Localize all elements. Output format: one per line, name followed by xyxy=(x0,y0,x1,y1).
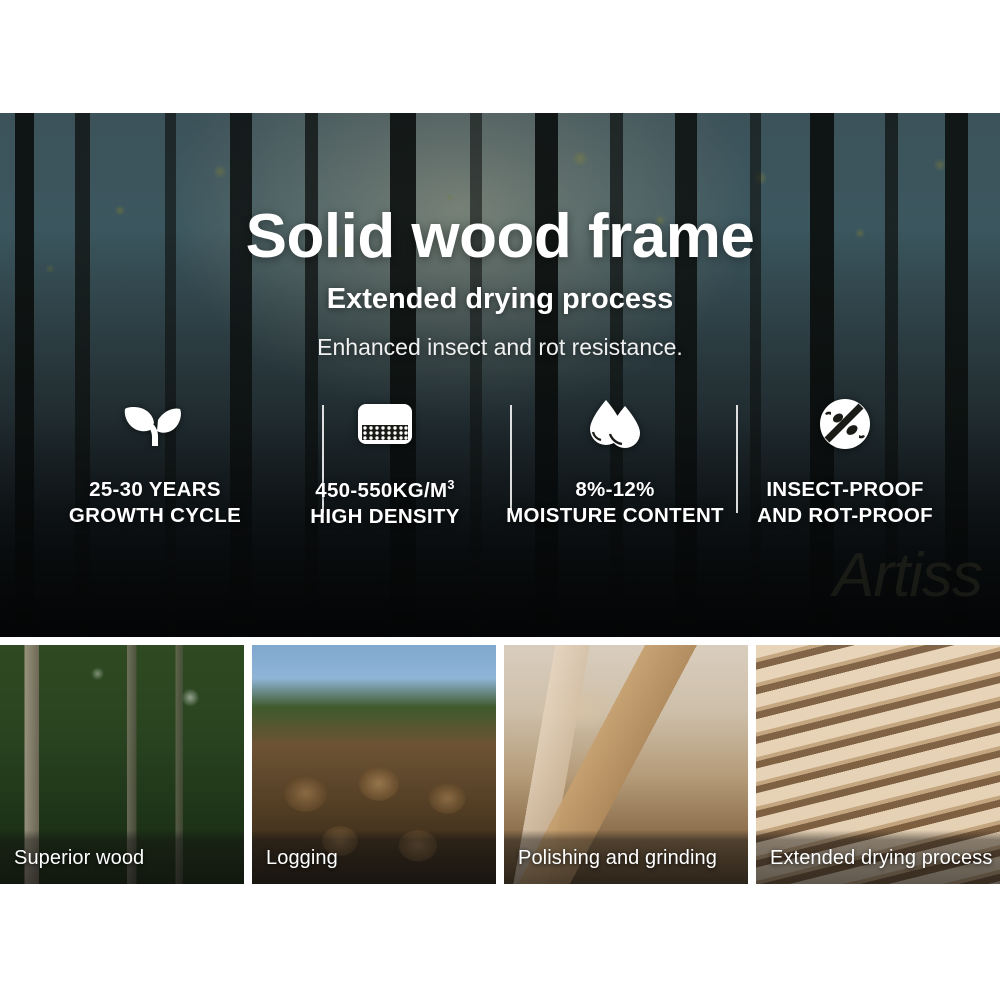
feature-label: 450-550KG/M3 HIGH DENSITY xyxy=(310,477,459,530)
gallery-tile-extended-drying: Extended drying process xyxy=(756,645,1000,884)
feature-line-1: 8%-12% xyxy=(575,478,654,501)
gallery-caption: Logging xyxy=(266,847,338,870)
gallery-tile-logging: Logging xyxy=(252,645,496,884)
water-droplets-icon xyxy=(584,393,646,455)
gallery-caption: Superior wood xyxy=(14,847,144,870)
hero-banner: Artiss Solid wood frame Extended drying … xyxy=(0,113,1000,637)
page-title: Solid wood frame xyxy=(0,201,1000,272)
feature-line-2: HIGH DENSITY xyxy=(310,504,459,530)
process-gallery: Superior wood Logging Polishing and grin… xyxy=(0,645,1000,884)
feature-label: INSECT-PROOF AND ROT-PROOF xyxy=(757,477,933,529)
hero-subtitle: Extended drying process xyxy=(0,283,1000,316)
feature-high-density: 450-550KG/M3 HIGH DENSITY xyxy=(270,393,500,530)
feature-line-2: GROWTH CYCLE xyxy=(69,503,241,529)
feature-label: 25-30 YEARS GROWTH CYCLE xyxy=(69,477,241,529)
feature-label: 8%-12% MOISTURE CONTENT xyxy=(506,477,724,529)
gallery-caption: Extended drying process xyxy=(770,847,992,870)
gallery-tile-superior-wood: Superior wood xyxy=(0,645,244,884)
no-insect-icon xyxy=(817,393,873,455)
feature-line-2: AND ROT-PROOF xyxy=(757,503,933,529)
density-block-icon xyxy=(356,393,414,455)
gallery-tile-polishing-grinding: Polishing and grinding xyxy=(504,645,748,884)
gallery-caption: Polishing and grinding xyxy=(518,847,717,870)
feature-line-2: MOISTURE CONTENT xyxy=(506,503,724,529)
hero-tagline: Enhanced insect and rot resistance. xyxy=(0,334,1000,361)
product-infographic-page: Artiss Solid wood frame Extended drying … xyxy=(0,0,1000,1000)
hero-content: Solid wood frame Extended drying process… xyxy=(0,113,1000,637)
feature-line-1: 25-30 YEARS xyxy=(89,478,221,501)
feature-line-1: 450-550KG/M xyxy=(315,479,447,502)
feature-moisture-content: 8%-12% MOISTURE CONTENT xyxy=(500,393,730,529)
feature-growth-cycle: 25-30 YEARS GROWTH CYCLE xyxy=(40,393,270,529)
feature-line-1-superscript: 3 xyxy=(447,477,454,492)
feature-insect-rot-proof: INSECT-PROOF AND ROT-PROOF xyxy=(730,393,960,529)
feature-line-1: INSECT-PROOF xyxy=(766,478,923,501)
feature-list: 25-30 YEARS GROWTH CYCLE xyxy=(40,393,960,530)
leaf-sprout-icon xyxy=(124,393,186,455)
